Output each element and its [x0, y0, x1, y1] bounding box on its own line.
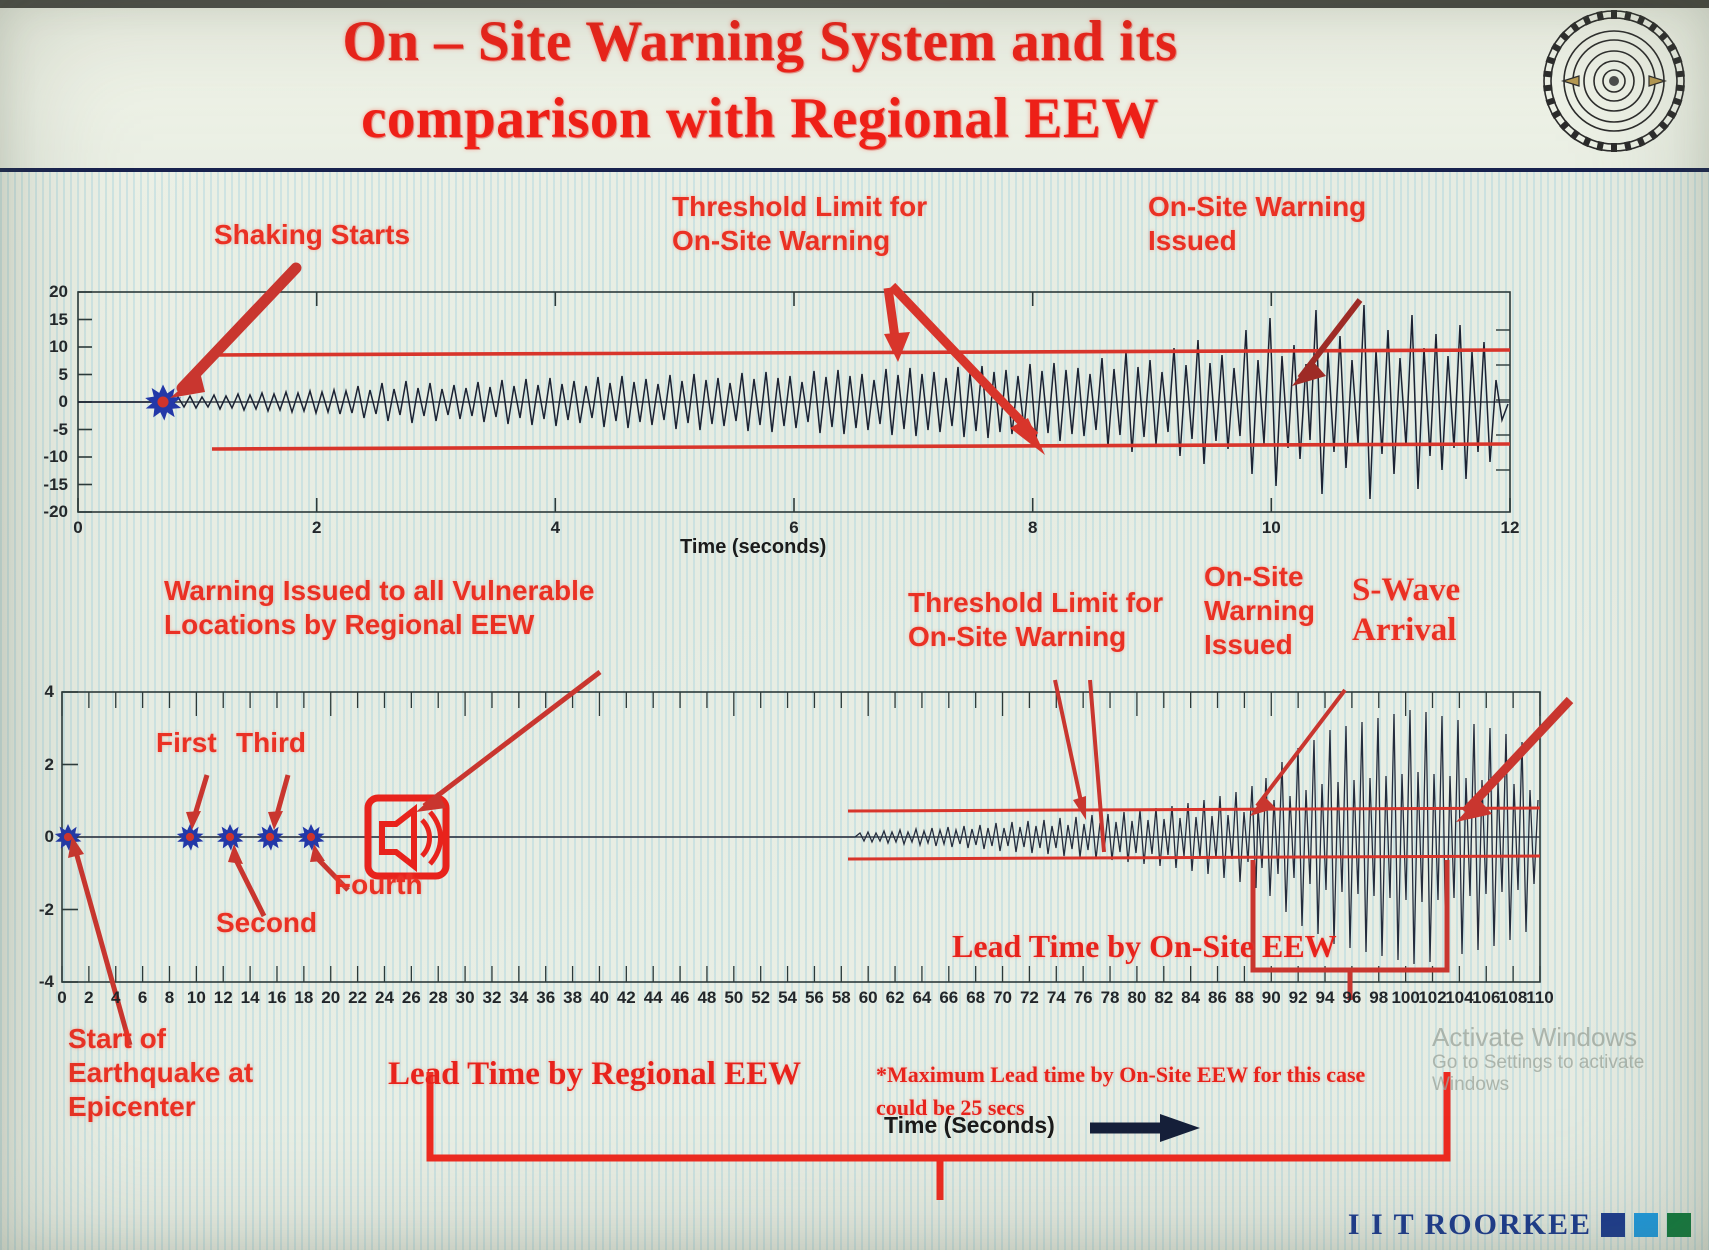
bottom-xtick-94: 94 [1316, 988, 1335, 1008]
bottom-xtick-56: 56 [805, 988, 824, 1008]
annotation-second: Second [216, 906, 317, 940]
bottom-xtick-44: 44 [644, 988, 663, 1008]
annotation-threshold-limit-top: Threshold Limit for On-Site Warning [672, 190, 927, 258]
bottom-xtick-52: 52 [751, 988, 770, 1008]
windows-activation-watermark-line2: Go to Settings to activate Windows [1432, 1052, 1709, 1096]
annotation-third: Third [236, 726, 306, 760]
bottom-xtick-88: 88 [1235, 988, 1254, 1008]
bottom-xtick-6: 6 [138, 988, 147, 1008]
brand-square-blue [1634, 1213, 1658, 1237]
annotation-threshold-limit-top-line2: On-Site Warning [672, 224, 927, 258]
bottom-xtick-60: 60 [859, 988, 878, 1008]
annotation-s-wave-arrival: S-Wave Arrival [1352, 570, 1460, 651]
bottom-xtick-36: 36 [536, 988, 555, 1008]
bottom-xtick-108: 108 [1499, 988, 1527, 1008]
label-lead-time-onsite: Lead Time by On-Site EEW [952, 928, 1337, 965]
bottom-xtick-4: 4 [111, 988, 120, 1008]
bottom-xtick-68: 68 [966, 988, 985, 1008]
annotation-regional-warning-issued: Warning Issued to all Vulnerable Locatio… [164, 574, 594, 642]
header-divider [0, 168, 1709, 172]
bottom-xtick-80: 80 [1127, 988, 1146, 1008]
annotation-onsite-warning-issued-bottom-line1: On-Site [1204, 560, 1315, 594]
footnote-max-lead-time-line1: *Maximum Lead time by On-Site EEW for th… [876, 1058, 1365, 1091]
bottom-xtick-0: 0 [57, 988, 66, 1008]
bottom-xtick-110: 110 [1526, 988, 1553, 1008]
bottom-xtick-8: 8 [165, 988, 174, 1008]
bottom-xtick-62: 62 [886, 988, 905, 1008]
brand-square-green [1667, 1213, 1691, 1237]
bottom-xtick-22: 22 [348, 988, 367, 1008]
windows-activation-watermark-line1: Activate Windows [1432, 1022, 1637, 1053]
annotation-fourth: Fourth [334, 868, 423, 902]
bottom-xtick-100: 100 [1391, 988, 1419, 1008]
bottom-xtick-20: 20 [321, 988, 340, 1008]
annotation-shaking-starts: Shaking Starts [214, 218, 410, 252]
bottom-xtick-12: 12 [214, 988, 233, 1008]
bottom-xtick-102: 102 [1418, 988, 1446, 1008]
annotation-start-of-earthquake-line3: Epicenter [68, 1090, 253, 1124]
bottom-xtick-78: 78 [1101, 988, 1120, 1008]
bottom-xtick-54: 54 [778, 988, 797, 1008]
annotation-onsite-warning-issued-top-line1: On-Site Warning [1148, 190, 1366, 224]
bottom-xtick-50: 50 [724, 988, 743, 1008]
bottom-xtick-84: 84 [1181, 988, 1200, 1008]
bottom-xtick-2: 2 [84, 988, 93, 1008]
iit-roorkee-footer-brand: I I T ROORKEE [1348, 1208, 1691, 1242]
annotation-first: First [156, 726, 217, 760]
iit-roorkee-emblem-icon [1541, 8, 1687, 154]
annotation-s-wave-arrival-line1: S-Wave [1352, 570, 1460, 610]
slide-header: On – Site Warning System and its compari… [0, 0, 1709, 172]
bottom-xtick-38: 38 [563, 988, 582, 1008]
top-chart-xaxis-title: Time (seconds) [680, 536, 826, 559]
bottom-xtick-26: 26 [402, 988, 421, 1008]
bottom-xtick-30: 30 [456, 988, 475, 1008]
bottom-xtick-72: 72 [1020, 988, 1039, 1008]
annotation-start-of-earthquake-line2: Earthquake at [68, 1056, 253, 1090]
annotation-threshold-limit-bottom-line1: Threshold Limit for [908, 586, 1163, 620]
bottom-xtick-40: 40 [590, 988, 609, 1008]
bottom-xtick-74: 74 [1047, 988, 1066, 1008]
page-title: On – Site Warning System and its compari… [150, 4, 1370, 158]
bottom-xtick-32: 32 [482, 988, 501, 1008]
bottom-xtick-92: 92 [1289, 988, 1308, 1008]
bottom-xtick-10: 10 [187, 988, 206, 1008]
bottom-xtick-70: 70 [993, 988, 1012, 1008]
bottom-xtick-98: 98 [1369, 988, 1388, 1008]
bottom-xtick-96: 96 [1342, 988, 1361, 1008]
bottom-xtick-58: 58 [832, 988, 851, 1008]
bottom-xtick-82: 82 [1154, 988, 1173, 1008]
bottom-xtick-76: 76 [1074, 988, 1093, 1008]
brand-square-navy [1601, 1213, 1625, 1237]
bottom-xtick-18: 18 [294, 988, 313, 1008]
annotation-start-of-earthquake-line1: Start of [68, 1022, 253, 1056]
bottom-xtick-24: 24 [375, 988, 394, 1008]
bottom-xtick-46: 46 [671, 988, 690, 1008]
annotation-regional-warning-issued-line2: Locations by Regional EEW [164, 608, 594, 642]
annotation-onsite-warning-issued-bottom-line3: Issued [1204, 628, 1315, 662]
bottom-xtick-86: 86 [1208, 988, 1227, 1008]
label-lead-time-regional: Lead Time by Regional EEW [388, 1056, 801, 1093]
annotation-onsite-warning-issued-bottom-line2: Warning [1204, 594, 1315, 628]
bottom-xtick-14: 14 [241, 988, 260, 1008]
annotation-threshold-limit-top-line1: Threshold Limit for [672, 190, 927, 224]
bottom-xtick-104: 104 [1445, 988, 1473, 1008]
bottom-xtick-28: 28 [429, 988, 448, 1008]
bottom-xtick-42: 42 [617, 988, 636, 1008]
bottom-xtick-66: 66 [939, 988, 958, 1008]
annotation-threshold-limit-bottom-line2: On-Site Warning [908, 620, 1163, 654]
iit-roorkee-footer-text: I I T ROORKEE [1348, 1208, 1592, 1242]
annotation-start-of-earthquake: Start of Earthquake at Epicenter [68, 1022, 253, 1124]
annotation-threshold-limit-bottom: Threshold Limit for On-Site Warning [908, 586, 1163, 654]
bottom-xtick-90: 90 [1262, 988, 1281, 1008]
annotation-s-wave-arrival-line2: Arrival [1352, 610, 1460, 650]
annotation-onsite-warning-issued-top: On-Site Warning Issued [1148, 190, 1366, 258]
bottom-xtick-34: 34 [509, 988, 528, 1008]
page-title-line1: On – Site Warning System and its [150, 4, 1370, 81]
bottom-xtick-48: 48 [697, 988, 716, 1008]
page-title-line2: comparison with Regional EEW [150, 81, 1370, 158]
annotation-onsite-warning-issued-bottom: On-Site Warning Issued [1204, 560, 1315, 662]
bottom-chart-xaxis-title: Time (Seconds) [884, 1112, 1055, 1139]
bottom-xtick-106: 106 [1472, 988, 1500, 1008]
bottom-xtick-64: 64 [912, 988, 931, 1008]
annotation-regional-warning-issued-line1: Warning Issued to all Vulnerable [164, 574, 594, 608]
annotation-onsite-warning-issued-top-line2: Issued [1148, 224, 1366, 258]
bottom-xtick-16: 16 [268, 988, 287, 1008]
